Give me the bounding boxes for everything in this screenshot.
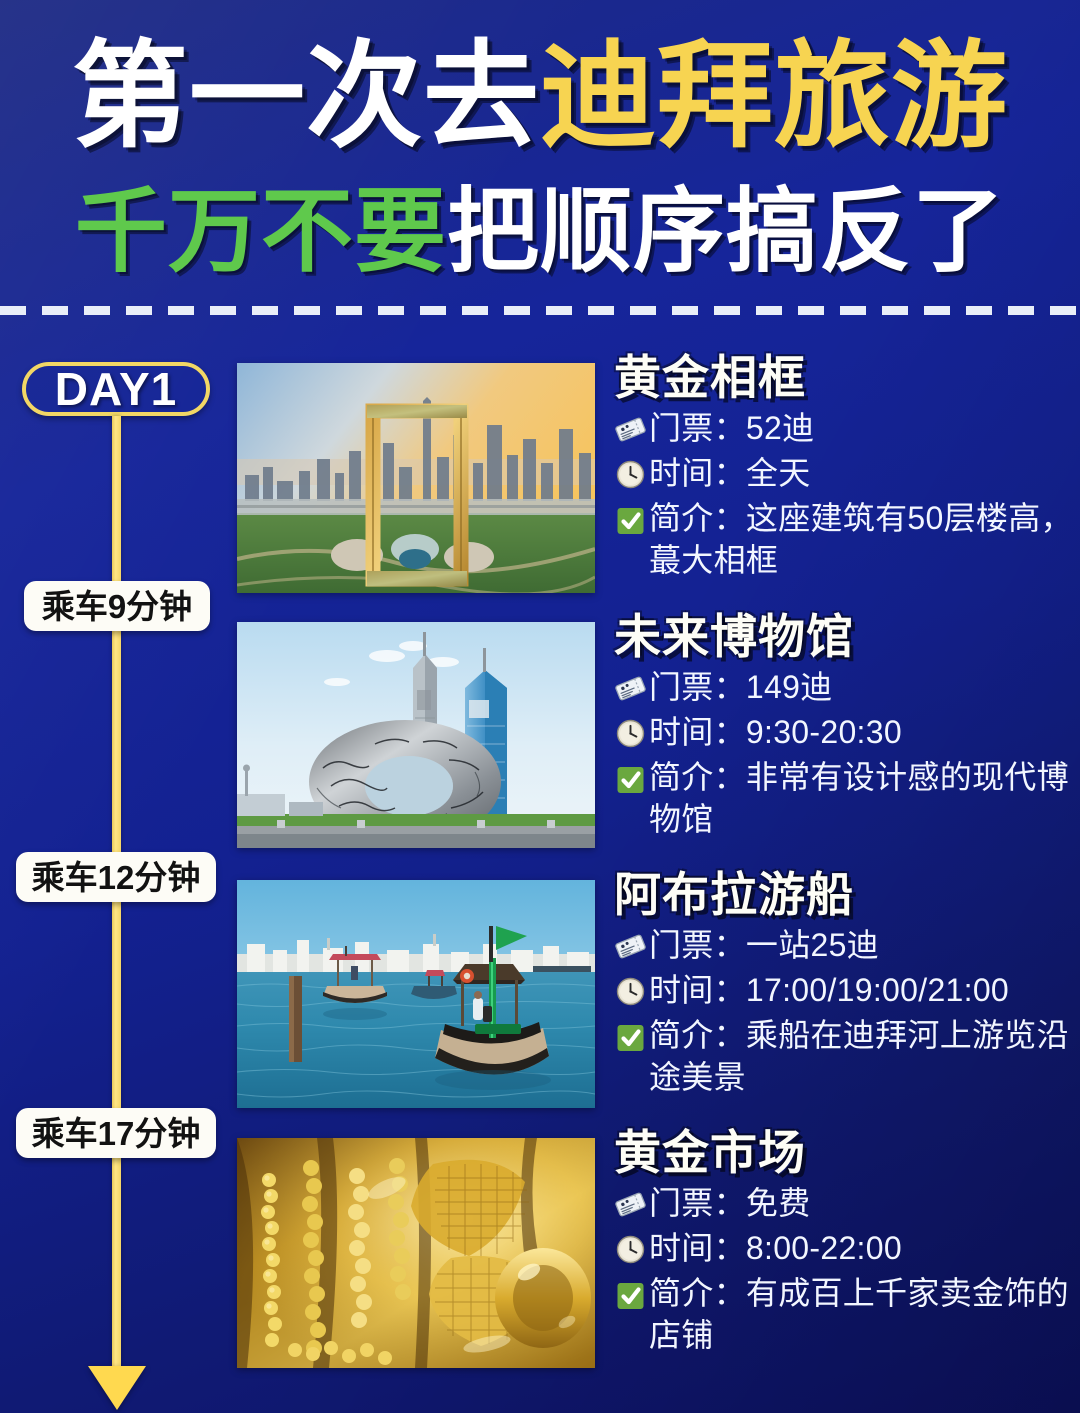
clock-icon (614, 1233, 647, 1266)
stop-time-text: 时间：8:00-22:00 (649, 1227, 1080, 1270)
intro-label: 简介： (649, 1275, 746, 1311)
clock-icon (614, 458, 647, 491)
itinerary-stop: 阿布拉游船 门票：一站25迪 (0, 880, 1080, 1138)
stop-ticket-row: 门票：149迪 (614, 666, 1080, 709)
stop-intro-row: 简介：非常有设计感的现代博物馆 (614, 756, 1080, 842)
intro-label: 简介： (649, 500, 746, 536)
time-label: 时间： (649, 1230, 746, 1266)
stop-title: 黄金市场 (614, 1128, 1080, 1178)
ticket-label: 门票： (649, 927, 746, 963)
ticket-value: 52迪 (746, 410, 815, 446)
ticket-value: 免费 (746, 1185, 811, 1221)
stop-detail: 未来博物馆 门票：149迪 (614, 612, 1080, 841)
stop-ticket-text: 门票：52迪 (649, 407, 1080, 450)
time-label: 时间： (649, 714, 746, 750)
stop-intro-text: 简介：乘船在迪拜河上游览沿途美景 (649, 1014, 1080, 1100)
stop-detail: 阿布拉游船 门票：一站25迪 (614, 870, 1080, 1099)
ticket-icon (614, 930, 647, 963)
stop-detail: 黄金市场 门票：免费 (614, 1128, 1080, 1357)
stop-time-text: 时间：9:30-20:30 (649, 711, 1080, 754)
stop-time-text: 时间：17:00/19:00/21:00 (649, 969, 1080, 1012)
time-value: 全天 (746, 455, 811, 491)
itinerary-stop: 未来博物馆 门票：149迪 (0, 622, 1080, 880)
green-check-icon (614, 503, 647, 536)
itinerary-stop-list: 黄金相框 门票：52迪 (0, 0, 1080, 1413)
stop-time-text: 时间：全天 (649, 452, 1080, 495)
stop-detail: 黄金相框 门票：52迪 (614, 353, 1080, 582)
time-value: 8:00-22:00 (746, 1230, 902, 1266)
time-label: 时间： (649, 455, 746, 491)
itinerary-stop: 黄金相框 门票：52迪 (0, 363, 1080, 622)
stop-ticket-text: 门票：免费 (649, 1182, 1080, 1225)
intro-label: 简介： (649, 759, 746, 795)
stop-photo (237, 880, 595, 1108)
stop-intro-row: 简介：有成百上千家卖金饰的店铺 (614, 1272, 1080, 1358)
ticket-label: 门票： (649, 669, 746, 705)
stop-intro-row: 简介：这座建筑有50层楼高，蕞大相框 (614, 497, 1080, 583)
stop-intro-row: 简介：乘船在迪拜河上游览沿途美景 (614, 1014, 1080, 1100)
itinerary-stop: 黄金市场 门票：免费 (0, 1138, 1080, 1403)
stop-time-row: 时间：9:30-20:30 (614, 711, 1080, 754)
stop-ticket-row: 门票：52迪 (614, 407, 1080, 450)
ticket-icon (614, 1188, 647, 1221)
stop-time-row: 时间：全天 (614, 452, 1080, 495)
stop-intro-text: 简介：有成百上千家卖金饰的店铺 (649, 1272, 1080, 1358)
stop-ticket-text: 门票：149迪 (649, 666, 1080, 709)
ticket-icon (614, 413, 647, 446)
clock-icon (614, 975, 647, 1008)
stop-photo (237, 622, 595, 848)
stop-intro-text: 简介：这座建筑有50层楼高，蕞大相框 (649, 497, 1080, 583)
clock-icon (614, 717, 647, 750)
intro-label: 简介： (649, 1017, 746, 1053)
stop-photo (237, 363, 595, 593)
stop-title: 阿布拉游船 (614, 870, 1080, 920)
stop-intro-text: 简介：非常有设计感的现代博物馆 (649, 756, 1080, 842)
stop-title: 黄金相框 (614, 353, 1080, 403)
ticket-value: 一站25迪 (746, 927, 879, 963)
stop-photo (237, 1138, 595, 1368)
ticket-value: 149迪 (746, 669, 833, 705)
time-value: 17:00/19:00/21:00 (746, 972, 1009, 1008)
time-label: 时间： (649, 972, 746, 1008)
ticket-icon (614, 672, 647, 705)
green-check-icon (614, 1020, 647, 1053)
green-check-icon (614, 762, 647, 795)
stop-ticket-text: 门票：一站25迪 (649, 924, 1080, 967)
stop-time-row: 时间：17:00/19:00/21:00 (614, 969, 1080, 1012)
ticket-label: 门票： (649, 410, 746, 446)
ticket-label: 门票： (649, 1185, 746, 1221)
green-check-icon (614, 1278, 647, 1311)
time-value: 9:30-20:30 (746, 714, 902, 750)
stop-title: 未来博物馆 (614, 612, 1080, 662)
stop-ticket-row: 门票：免费 (614, 1182, 1080, 1225)
stop-time-row: 时间：8:00-22:00 (614, 1227, 1080, 1270)
stop-ticket-row: 门票：一站25迪 (614, 924, 1080, 967)
